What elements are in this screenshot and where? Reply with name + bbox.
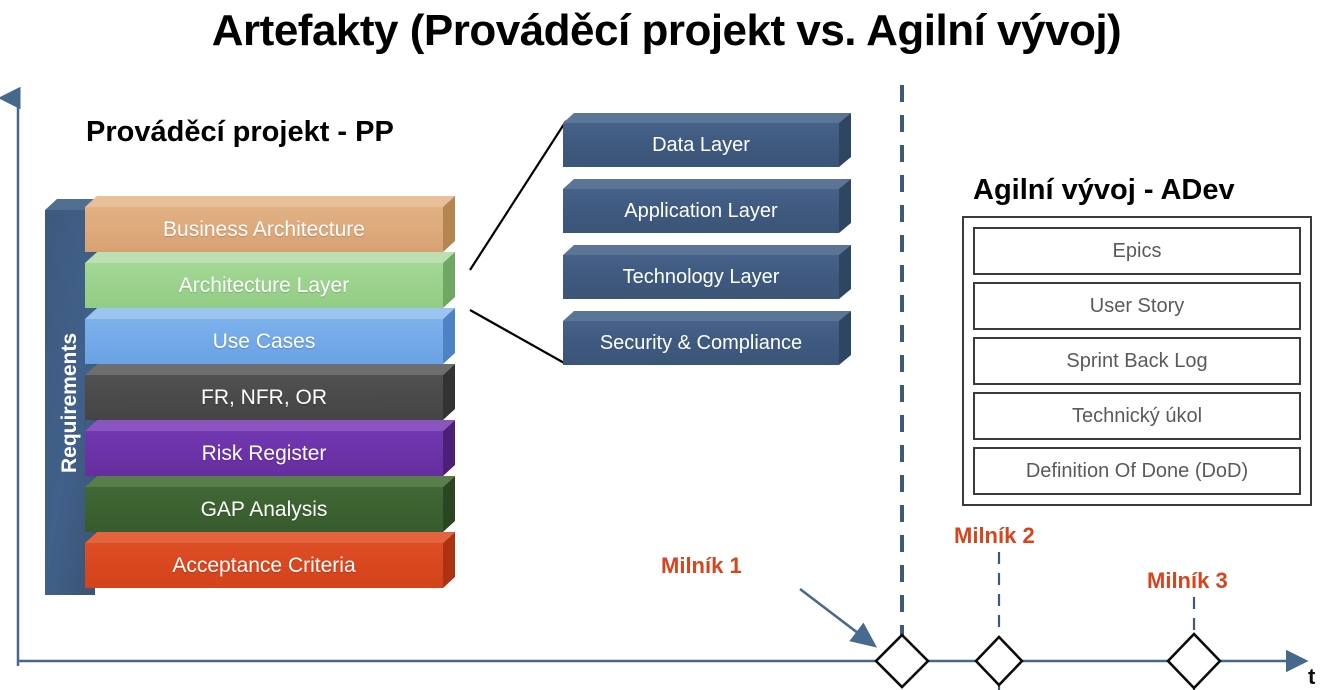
milestone-label-1: Milník 1 — [661, 553, 742, 579]
milestone-diamond-3[interactable] — [1168, 634, 1220, 688]
milestone-diamond-2[interactable] — [976, 637, 1022, 685]
arch-box-label: Technology Layer — [563, 255, 839, 299]
layer-bar-label: Business Architecture — [85, 207, 443, 252]
x-axis-label: t — [1308, 664, 1315, 690]
layer-bar-risk-register[interactable]: Risk Register — [85, 420, 443, 465]
arch-box-technology-layer[interactable]: Technology Layer — [563, 245, 851, 289]
page-title: Artefakty (Prováděcí projekt vs. Agilní … — [0, 6, 1333, 56]
arch-box-label: Application Layer — [563, 189, 839, 233]
architecture-detail-boxes: Data Layer Application Layer Technology … — [563, 113, 863, 373]
layer-bar-label: FR, NFR, OR — [85, 375, 443, 420]
adev-item-label: Definition Of Done (DoD) — [1026, 460, 1248, 483]
adev-item-epics[interactable]: Epics — [973, 227, 1301, 275]
adev-item-technicky-ukol[interactable]: Technický úkol — [973, 392, 1301, 440]
adev-section-heading: Agilní vývoj - ADev — [973, 174, 1235, 207]
arch-box-security-compliance[interactable]: Security & Compliance — [563, 311, 851, 355]
layer-bar-acceptance-criteria[interactable]: Acceptance Criteria — [85, 532, 443, 577]
milestone-diamond-1[interactable] — [876, 635, 928, 687]
layer-bar-label: Use Cases — [85, 319, 443, 364]
adev-artifact-panel: Epics User Story Sprint Back Log Technic… — [962, 216, 1312, 506]
adev-item-label: Sprint Back Log — [1066, 350, 1207, 373]
layer-bar-gap-analysis[interactable]: GAP Analysis — [85, 476, 443, 521]
slide-canvas: Artefakty (Prováděcí projekt vs. Agilní … — [0, 0, 1333, 690]
pp-section-heading: Prováděcí projekt - PP — [86, 116, 394, 149]
layer-bar-label: Risk Register — [85, 431, 443, 476]
adev-item-sprint-back-log[interactable]: Sprint Back Log — [973, 337, 1301, 385]
adev-item-user-story[interactable]: User Story — [973, 282, 1301, 330]
arch-box-label: Security & Compliance — [563, 321, 839, 365]
adev-item-definition-of-done[interactable]: Definition Of Done (DoD) — [973, 447, 1301, 495]
layer-bar-label: Architecture Layer — [85, 263, 443, 308]
arch-box-application-layer[interactable]: Application Layer — [563, 179, 851, 223]
arch-box-label: Data Layer — [563, 123, 839, 167]
milestone-label-3: Milník 3 — [1147, 568, 1228, 594]
milestone-label-2: Milník 2 — [954, 523, 1035, 549]
layer-bar-architecture-layer[interactable]: Architecture Layer — [85, 252, 443, 297]
adev-item-label: User Story — [1090, 295, 1184, 318]
adev-item-label: Epics — [1113, 240, 1162, 263]
layer-bar-fr-nfr-or[interactable]: FR, NFR, OR — [85, 364, 443, 409]
arch-box-data-layer[interactable]: Data Layer — [563, 113, 851, 157]
layer-bar-label: GAP Analysis — [85, 487, 443, 532]
adev-item-label: Technický úkol — [1072, 405, 1202, 428]
layer-bar-use-cases[interactable]: Use Cases — [85, 308, 443, 353]
layer-bar-business-architecture[interactable]: Business Architecture — [85, 196, 443, 241]
milestone-1-arrow — [800, 589, 875, 646]
layer-bar-label: Acceptance Criteria — [85, 543, 443, 588]
pp-layer-stack: Business Architecture Architecture Layer… — [85, 196, 485, 596]
